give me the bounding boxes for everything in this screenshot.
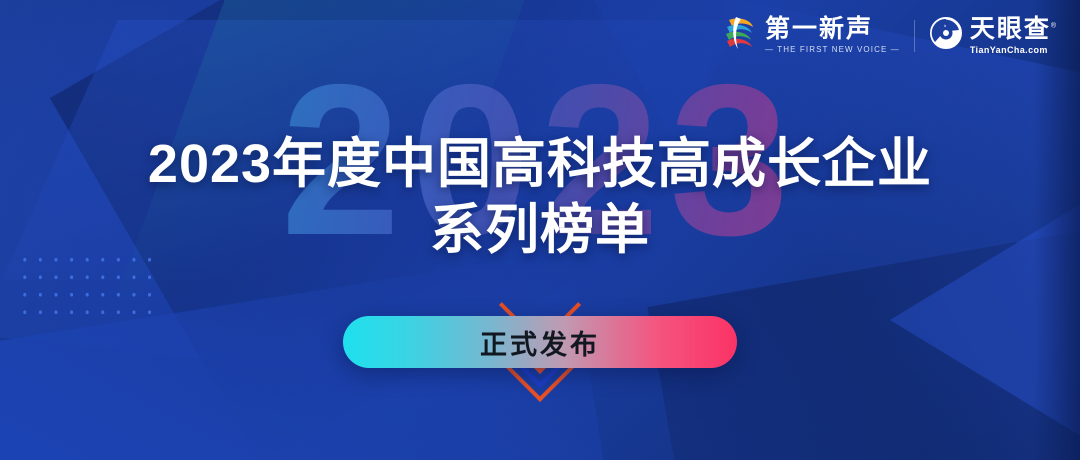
page-title: 2023年度中国高科技高成长企业 系列榜单	[0, 132, 1080, 264]
logo-diyixinsheng-name: 第一新声	[765, 17, 900, 42]
release-status-pill[interactable]: 正式发布	[343, 316, 737, 368]
logo-tianyancha[interactable]: 天眼查® TianYanCha.com	[929, 16, 1058, 55]
logo-tianyancha-name-text: 天眼查	[970, 15, 1051, 43]
camera-lens-logo-icon	[929, 16, 963, 55]
logo-diyixinsheng-text: 第一新声 — THE FIRST NEW VOICE —	[765, 17, 900, 54]
title-line-primary: 2023年度中国高科技高成长企业	[0, 132, 1080, 198]
logo-divider	[914, 20, 915, 52]
logo-diyixinsheng-tagline: — THE FIRST NEW VOICE —	[765, 46, 900, 54]
logo-bar: 第一新声 — THE FIRST NEW VOICE — 天眼查®	[722, 14, 1058, 57]
logo-tianyancha-text: 天眼查® TianYanCha.com	[970, 17, 1058, 55]
title-line-secondary: 系列榜单	[0, 198, 1080, 264]
promo-banner: 2023 2023年度中国高科技高成长企业 系列榜单 正式发布	[0, 0, 1080, 460]
logo-tianyancha-name: 天眼查®	[970, 17, 1058, 42]
logo-tianyancha-tagline: TianYanCha.com	[970, 46, 1058, 55]
ribbon-swirl-logo-icon	[722, 14, 758, 57]
trademark-symbol: ®	[1051, 22, 1058, 29]
release-status-label: 正式发布	[480, 323, 600, 362]
logo-diyixinsheng[interactable]: 第一新声 — THE FIRST NEW VOICE —	[722, 14, 900, 57]
